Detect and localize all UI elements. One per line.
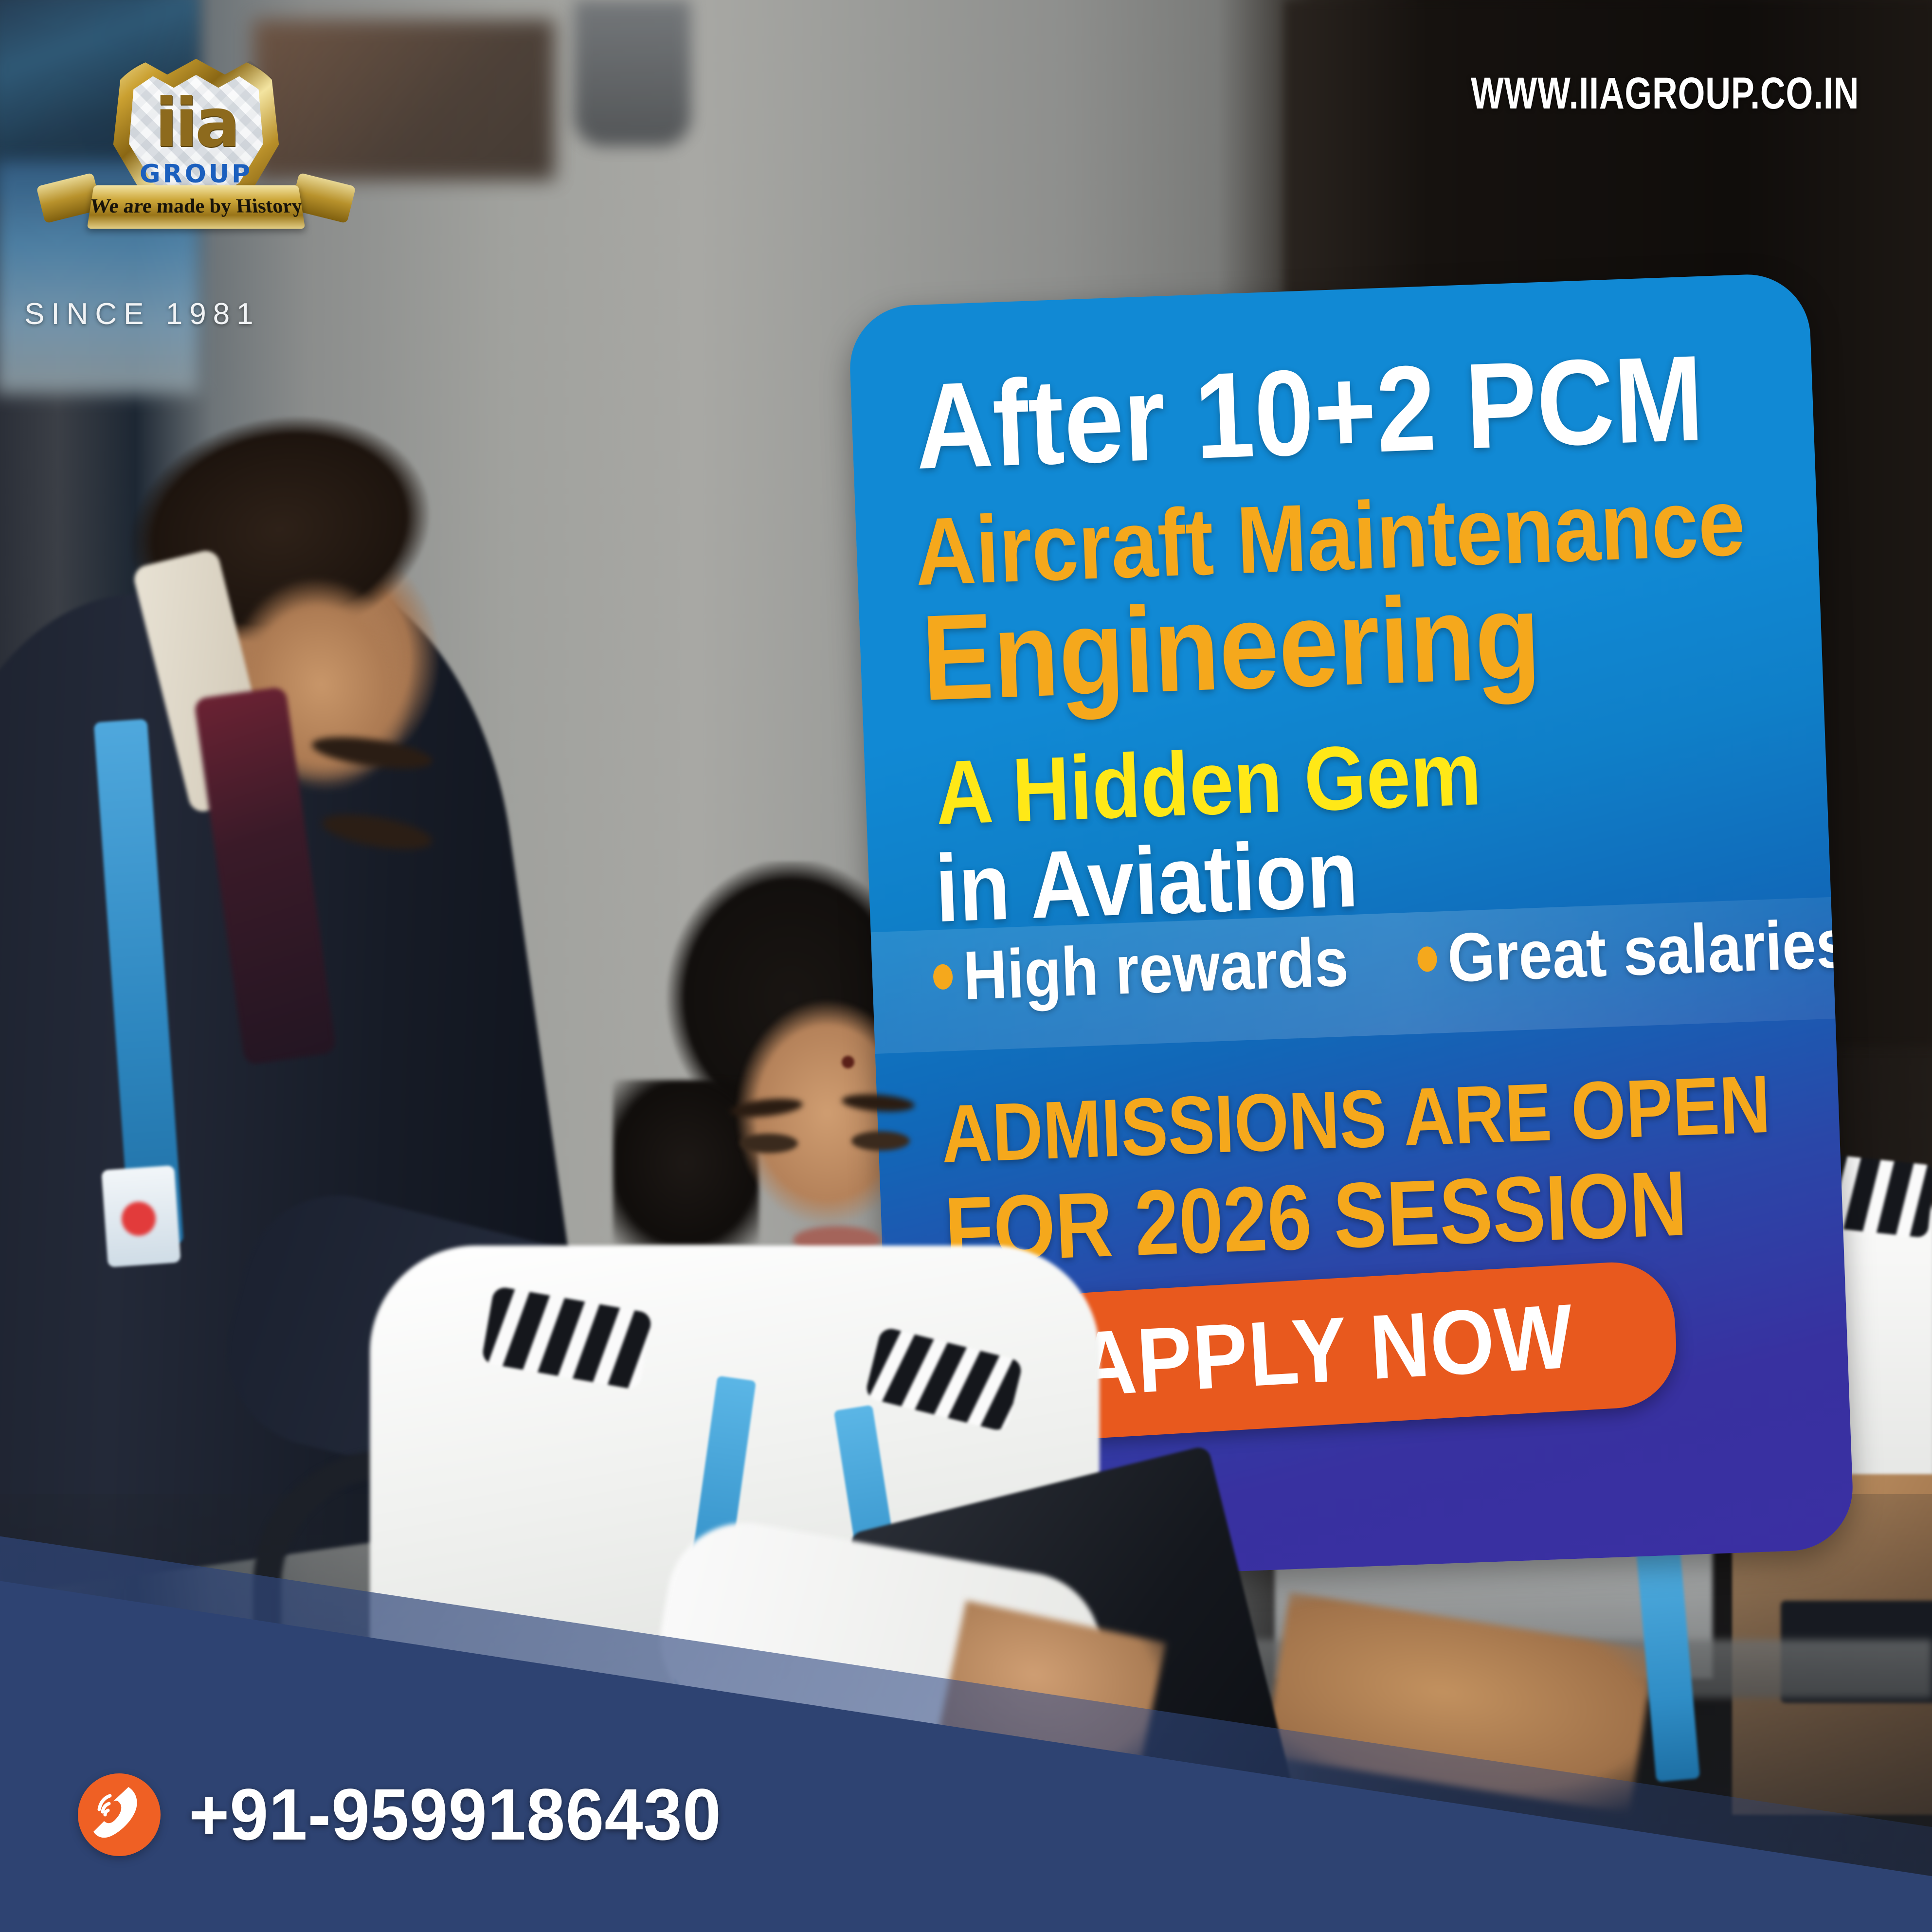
ceiling-pipe-decor	[574, 0, 691, 146]
phone-icon	[78, 1773, 161, 1856]
student-eye-right	[851, 1131, 910, 1151]
website-url[interactable]: WWW.IIAGROUP.CO.IN	[1471, 68, 1859, 119]
bullet-icon-1	[933, 964, 953, 990]
student-bindi	[842, 1056, 854, 1068]
headline-line-3: Engineering	[920, 572, 1681, 717]
logo-letters: iia	[87, 90, 306, 157]
admissions-block: ADMISSIONS ARE OPEN FOR 2026 SESSION	[877, 1060, 1844, 1281]
phone-number[interactable]: +91-9599186430	[189, 1772, 722, 1857]
crest-icon: iia GROUP We are made by History	[87, 49, 306, 243]
ribbon-banner: We are made by History	[87, 185, 306, 229]
brand-logo: iia GROUP We are made by History	[58, 49, 331, 272]
benefit-1: High rewards	[962, 922, 1350, 1016]
logo-tagline: We are made by History	[88, 195, 304, 218]
benefit-2: Great salaries	[1446, 904, 1851, 998]
contact-block[interactable]: +91-9599186430	[78, 1772, 750, 1857]
apply-now-label: APPLY NOW	[1074, 1283, 1576, 1416]
logo-group-word: GROUP	[87, 160, 306, 189]
bullet-icon-2	[1417, 946, 1437, 972]
instructor-badge-mark	[122, 1202, 156, 1236]
promo-poster: iia GROUP We are made by History SINCE 1…	[0, 0, 1932, 1932]
since-label: SINCE 1981	[24, 297, 260, 331]
student-eye-left	[740, 1134, 798, 1153]
headline-line-1: After 10+2 PCM	[913, 341, 1673, 485]
